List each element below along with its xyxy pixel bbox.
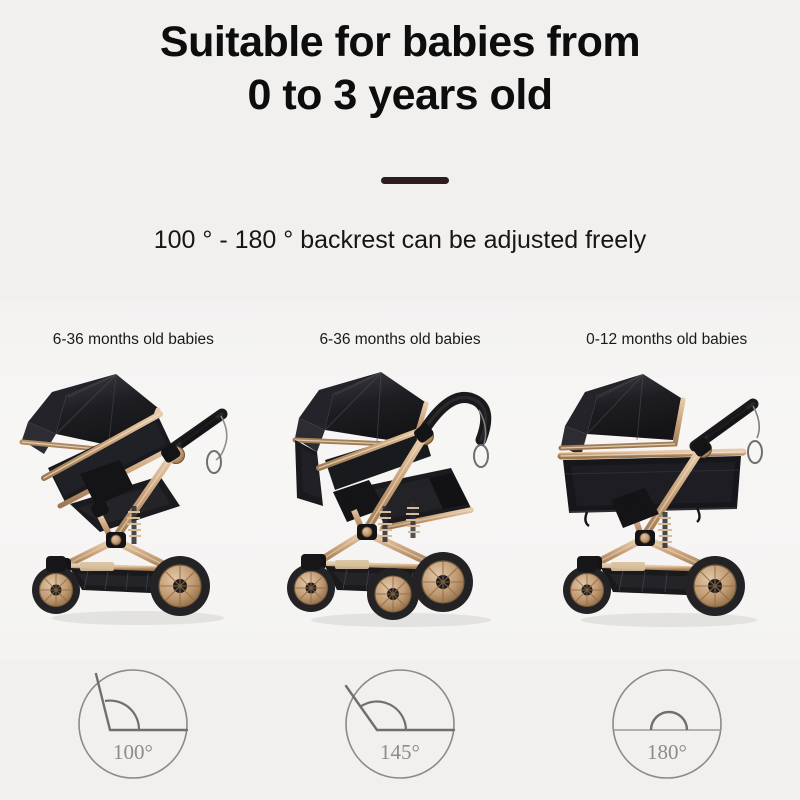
headline-line-1: Suitable for babies from (160, 18, 640, 66)
angle-label-145: 145° (380, 740, 420, 764)
canopy-3 (561, 374, 683, 456)
title-divider (381, 177, 449, 184)
angle-label-100: 100° (113, 740, 153, 764)
stroller-column-1: 6-36 months old babies (0, 330, 267, 660)
rear-wheel-1 (150, 556, 210, 616)
angle-ray-100 (96, 674, 110, 730)
suspension-spring-3 (658, 512, 672, 548)
page-title: Suitable for babies from 0 to 3 years ol… (0, 16, 800, 122)
mid-wheel-2 (367, 568, 419, 620)
angle-cell-180: 180° (533, 662, 800, 800)
stroller-illustration-1 (8, 356, 258, 636)
rear-wheel-2 (413, 552, 473, 612)
column-caption-2: 6-36 months old babies (319, 330, 480, 350)
headline-line-2: 0 to 3 years old (0, 69, 800, 122)
column-caption-1: 6-36 months old babies (53, 330, 214, 350)
stroller-columns: 6-36 months old babies (0, 330, 800, 660)
stroller-illustration-3 (547, 356, 787, 636)
angle-ray-145 (346, 686, 377, 730)
angle-label-180: 180° (647, 740, 687, 764)
angle-arc-180 (651, 712, 687, 730)
brand-plate-2 (335, 560, 369, 569)
page-subtitle: 100 ° - 180 ° backrest can be adjusted f… (0, 224, 800, 256)
column-caption-3: 0-12 months old babies (586, 330, 747, 350)
brand-plate-3 (611, 562, 645, 571)
angle-cell-145: 145° (267, 662, 534, 800)
rear-wheel-3 (685, 556, 745, 616)
stroller-column-3: 0-12 months old babies (533, 330, 800, 660)
stroller-illustration-2 (273, 356, 528, 636)
stroller-column-2: 6-36 months old babies (267, 330, 534, 660)
promo-page: Suitable for babies from 0 to 3 years ol… (0, 0, 800, 800)
brand-plate-1 (80, 562, 114, 571)
angle-cell-100: 100° (0, 662, 267, 800)
handlebar-1 (168, 414, 227, 473)
angle-diagram-row: 100° 145° 180° (0, 662, 800, 800)
suspension-spring-1 (127, 506, 141, 544)
